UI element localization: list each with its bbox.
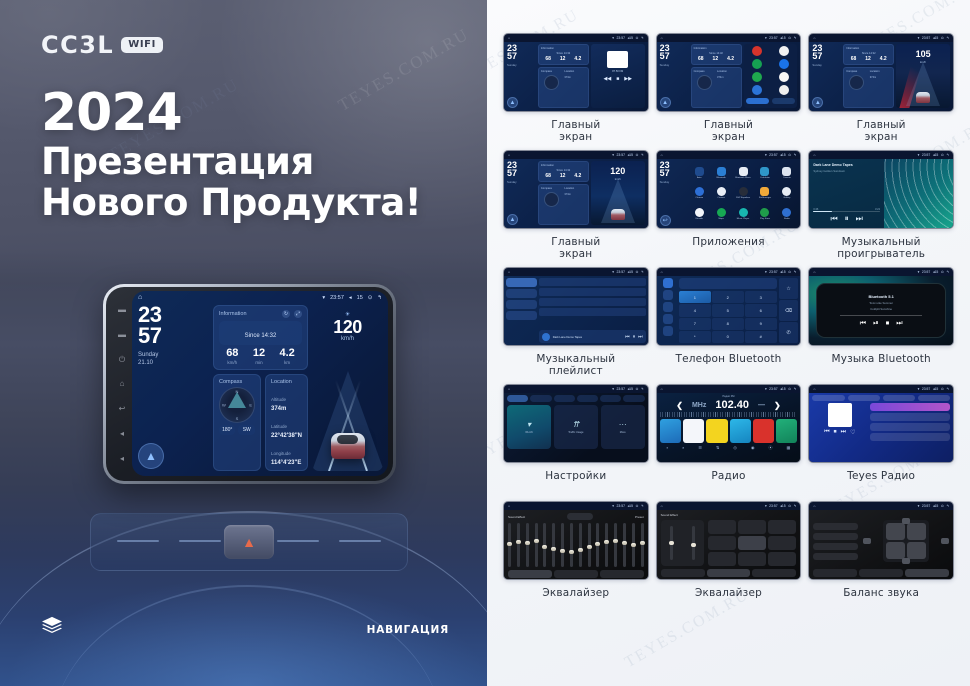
preset-button [768, 520, 796, 534]
dual-sliders [661, 520, 704, 566]
stat-avg-speed: 68 km/h [226, 348, 238, 365]
vent-slat [117, 540, 159, 542]
home-key[interactable]: ⌂ [118, 379, 127, 388]
dialer-sidebar [659, 278, 677, 343]
navigation-label: НАВИГАЦИЯ [367, 624, 449, 636]
volume-icon: ◂15 [780, 270, 785, 274]
app-tile: Bluetooth Music [733, 163, 754, 183]
caption-line-1: Приложения [692, 236, 764, 248]
gallery-item[interactable]: ⌂▾23:57◂15⊙↰ Sound Effect [656, 501, 802, 612]
layers-icon[interactable] [41, 616, 63, 642]
status-icons: ▾23:57◂15⊙↰ [612, 270, 643, 274]
dialer-actions: ☆ ⌫ ✆ [779, 278, 799, 343]
thumb-status-bar: ⌂▾23:57◂15⊙↰ [657, 151, 801, 159]
mini-location-title: Location [564, 187, 585, 190]
keypad: 1 2 3 4 5 6 7 8 9 * [679, 291, 777, 343]
mini-since: Since 14:32 [846, 52, 891, 55]
mini-compass-dial [697, 75, 712, 90]
home-icon: ⌂ [813, 36, 815, 40]
chevron-right-icon: ❯ [774, 401, 781, 410]
prev-icon: ⏮ [830, 214, 837, 224]
compass-direction: SW [238, 425, 255, 435]
compass-card[interactable]: Compass N S W E [213, 374, 261, 471]
app-label: Camera [783, 177, 791, 179]
gallery-item[interactable]: ⌂▾23:57◂15⊙↰ Sound Effect Preset [503, 501, 649, 612]
mini-compass: Compass [846, 70, 867, 105]
band-icon: ▪ [667, 445, 668, 451]
compass-dial-wrap: N S W E [219, 387, 255, 423]
player-visualizer [884, 159, 953, 228]
next-icon: ⏭ [638, 334, 643, 340]
stop-icon: ⏹ [886, 320, 890, 328]
volume-icon: ◂15 [933, 270, 938, 274]
radio-icon [782, 208, 791, 217]
wifi-icon: ▾ [765, 387, 767, 391]
wifi-icon: ▾ [322, 295, 325, 301]
bt-controls: ⏮ ⏯ ⏹ ⏭ [860, 320, 903, 328]
tile-label: More [620, 431, 626, 434]
thumbnail-settings[interactable]: ⌂▾23:57◂15⊙↰ [503, 384, 649, 463]
key-6: 6 [745, 304, 777, 316]
teyes-station-list [870, 403, 950, 460]
more-icon: ▦ [787, 445, 791, 451]
gear-icon: ⊙ [941, 36, 944, 40]
gallery-caption: Музыка Bluetooth [831, 353, 930, 378]
play-pause-icon: ⏯ [873, 320, 879, 328]
station-name: 87.50 FM [591, 70, 645, 73]
location-card[interactable]: Location Altitude 374m Latitude 22°42'38… [265, 374, 308, 471]
mini-home-screen: 23 57 Sunday ▲ Information Since 14:32 [504, 159, 648, 228]
app-icon-grid: Auto Bluetooth Bluetooth Music Calculato… [689, 161, 798, 226]
mini-location-title: Location [717, 70, 738, 73]
power-key[interactable]: ⏻ [118, 355, 127, 364]
information-card-header: Information ↻ ⤢ [219, 310, 302, 318]
app-label: Kinside [696, 218, 703, 220]
key-7: 7 [679, 318, 711, 330]
footer-tab [508, 570, 552, 578]
mini-information-card: Information Since 14:32 68 12 4.2 [538, 161, 589, 182]
album-art [542, 333, 550, 341]
back-icon[interactable]: ↰ [377, 295, 382, 301]
gallery-icon [782, 187, 791, 196]
key-hash: # [745, 331, 777, 343]
caption-line-1: Главный [551, 236, 600, 248]
equalizer-screen: Sound Effect Preset [504, 510, 648, 579]
mini-stats: 68 12 4.2 [694, 56, 739, 62]
app-label: Bluetooth [717, 177, 726, 179]
filemanager-icon [760, 187, 769, 196]
longitude-value: 114°4'23"E [271, 460, 302, 466]
clock-text: 23:57 [769, 153, 778, 157]
mini-nav-button: ▲ [507, 214, 518, 225]
navigation-button[interactable]: ▲ [138, 443, 164, 469]
thumbnail-equalizer[interactable]: ⌂▾23:57◂15⊙↰ Sound Effect Preset [503, 501, 649, 580]
footer-tab [707, 569, 751, 577]
eq-band [561, 523, 564, 567]
gallery-caption: Настройки [545, 470, 606, 495]
clock-text: 23:57 [922, 504, 931, 508]
head-unit-screen[interactable]: ⌂ ▾ 23:57 ◂ 15 ⊙ ↰ [132, 291, 388, 476]
clock-text: 23:57 [922, 153, 931, 157]
mini-nav-button: ▲ [812, 97, 823, 108]
caption-line-1: Баланс звука [843, 587, 919, 599]
status-icons: ▾23:57◂15⊙↰ [918, 387, 949, 391]
caption-line-1: Главный [551, 119, 600, 131]
gallery-item[interactable]: ⌂▾23:57◂15⊙↰ Bluetooth 5.1 Toxic-Like Su… [808, 267, 954, 378]
chevron-left-icon: ❮ [676, 401, 683, 410]
thumb-content: Радио FM ❮ MHz 102.40 — ❯ [657, 393, 801, 462]
mini-altitude: 374m [870, 76, 891, 79]
thumbnail-home-apps[interactable]: ⌂▾23:57◂15⊙↰ 23 57 Sunday ▲ [656, 33, 802, 112]
hotspot-tile: ⇈Traffic Usage [554, 405, 598, 449]
mini-compass-title: Compass [694, 70, 715, 73]
volume-icon: ◂15 [627, 153, 632, 157]
thumbnail-radio[interactable]: ⌂▾23:57◂15⊙↰ Радио FM ❮ MHz 102.40 — ❯ [656, 384, 802, 463]
tuner-scale [660, 412, 798, 417]
clock-date: 21.10 [138, 359, 209, 367]
footer-tab [752, 569, 796, 577]
speaker-rl [886, 542, 905, 559]
mini-clock-day: Sunday [812, 63, 841, 67]
thumbnail-teyes-radio[interactable]: ⌂▾23:57◂15⊙↰ ⏮ [808, 384, 954, 463]
thumbnail-sound-balance[interactable]: ⌂▾23:57◂15⊙↰ [808, 501, 954, 580]
hazard-lights-button[interactable]: ▲ [224, 525, 274, 559]
thumbnail-music-player[interactable]: ⌂▾23:57◂15⊙↰ Dark Lane Demo Tapes Sydney… [808, 150, 954, 229]
status-icons: ▾23:57◂15⊙↰ [612, 387, 643, 391]
volume-icon: ◂15 [933, 153, 938, 157]
caption-line-1: Настройки [545, 470, 606, 482]
refresh-icon[interactable]: ↻ [282, 310, 290, 318]
gallery-item[interactable]: ⌂▾23:57◂15⊙↰ Радио FM ❮ MHz 102.40 — ❯ [656, 384, 802, 495]
clock-widget: 23 57 Sunday 21.10 ▲ [138, 305, 209, 471]
thumbnail-apps[interactable]: ⌂▾23:57◂15⊙↰ 23 57 Sunday ↩ Auto [656, 150, 802, 229]
app-label: Radio [784, 218, 790, 220]
thumb-status-bar: ⌂▾23:57◂15⊙↰ [809, 151, 953, 159]
stat-value: 4.2 [280, 348, 295, 359]
pause-icon: ⏸ [845, 214, 849, 224]
mini-clock-m: 57 [660, 52, 689, 60]
home-icon: ⌂ [508, 36, 510, 40]
readout-row [813, 533, 858, 540]
mini-home-screen: 23 57 Sunday ▲ Information Since 14:32 [809, 42, 953, 111]
playlist-tracks: Dark Lane Demo Tapes ⏮ ⏸ ⏭ [539, 278, 646, 343]
app-label: Chrome [695, 197, 703, 199]
key-1: 1 [679, 291, 711, 303]
thumbnail-home-media[interactable]: ⌂▾23:57◂15⊙↰ 23 57 Sunday ▲ [503, 33, 649, 112]
play-store-icon [760, 208, 769, 217]
compass-w: W [222, 403, 226, 408]
tile-label: WLAN [525, 431, 533, 434]
back-key[interactable]: ↩ [118, 404, 127, 413]
radio-frequency-row: ❮ MHz 102.40 — ❯ [660, 399, 798, 411]
vent-slat [277, 540, 319, 542]
altitude-label: Altitude [271, 397, 286, 402]
volume-icon: ◂15 [627, 504, 632, 508]
gallery-item[interactable]: ⌂▾23:57◂15⊙↰ ⏮ [808, 384, 954, 495]
caption-line-1: Радио [711, 470, 745, 482]
equalizer-title: Sound Effect [508, 515, 525, 519]
thumbnail-equalizer-2[interactable]: ⌂▾23:57◂15⊙↰ Sound Effect [656, 501, 802, 580]
rds-icon: ◎ [733, 445, 737, 451]
mini-card-title: Information [694, 47, 739, 50]
key-0: 0 [712, 331, 744, 343]
headline-block: 2024 Презентация Нового Продукта! [41, 86, 421, 223]
volume-icon: ◂15 [780, 36, 785, 40]
eq-band [623, 523, 626, 567]
preset-grid [708, 520, 796, 566]
caption-line-2: проигрыватель [837, 248, 925, 260]
thumb-content: Sound Effect Preset [504, 510, 648, 579]
settings-tab [623, 395, 644, 402]
status-icons: ▾23:57◂15⊙↰ [918, 270, 949, 274]
key-3: 3 [745, 291, 777, 303]
settings-icon [663, 326, 673, 336]
balance-footer-tabs [813, 569, 949, 577]
app-label: Play Store [760, 218, 770, 220]
balance-readouts [813, 516, 858, 566]
music-player-screen: Dark Lane Demo Tapes Sydney Golden Sundo… [809, 159, 953, 228]
thumbnail-bluetooth-music[interactable]: ⌂▾23:57◂15⊙↰ Bluetooth 5.1 Toxic-Like Su… [808, 267, 954, 346]
stat-unit: km/h [226, 360, 238, 365]
clock-text: 23:57 [616, 387, 625, 391]
back-icon: ↰ [641, 153, 644, 157]
gallery-item[interactable]: ⌂▾23:57◂15⊙↰ 23 57 Sunday ▲ [503, 150, 649, 261]
gallery-item[interactable]: ⌂▾23:57◂15⊙↰ [656, 267, 802, 378]
preset-tile [660, 419, 681, 443]
slider [692, 526, 695, 560]
favorite-icon: ☆ [779, 278, 799, 299]
track-row [539, 308, 646, 316]
app-label: Music Player [737, 218, 750, 220]
gear-icon[interactable]: ⊙ [368, 295, 373, 301]
preset-button [708, 536, 736, 550]
volume-icon: ◂15 [933, 504, 938, 508]
preset-button [738, 552, 766, 566]
thumb-content: 1 2 3 4 5 6 7 8 9 * [657, 276, 801, 345]
status-bar-right: ▾ 23:57 ◂ 15 ⊙ ↰ [322, 295, 382, 301]
compass-s: S [236, 416, 239, 421]
app-label: Calculator [760, 177, 770, 179]
presentation-page: TEYES.COM.RU TEYES.COM.RU TEYES.COM.RU T… [0, 0, 970, 686]
mini-compass-dial [849, 75, 864, 90]
mini-compass-title: Compass [541, 70, 562, 73]
settings-tiles: ▾WLAN ⇈Traffic Usage ···More [507, 405, 645, 449]
album-art [828, 403, 852, 427]
app-icon [752, 72, 762, 82]
wifi-icon: ▾ [765, 270, 767, 274]
car-icon [611, 209, 625, 220]
thumb-content [809, 510, 953, 579]
caption-line-2: экран [551, 248, 600, 260]
app-icon [779, 46, 789, 56]
status-time: 23:57 [330, 295, 344, 301]
mini-compass: Compass [694, 70, 715, 105]
bt-title: Bluetooth 5.1 [868, 294, 893, 299]
volume-up-key[interactable]: ◂ [118, 454, 127, 463]
gallery-item[interactable]: ⌂▾23:57◂15⊙↰ [503, 384, 649, 495]
clock-text: 23:57 [769, 270, 778, 274]
radio-screen: Радио FM ❮ MHz 102.40 — ❯ [657, 393, 801, 462]
thumb-status-bar: ⌂▾23:57◂15⊙↰ [657, 34, 801, 42]
gallery-item[interactable]: ⌂▾23:57◂15⊙↰ [808, 501, 954, 612]
widgets-row: Compass N S W E [213, 374, 308, 471]
mini-stat: 68 [851, 56, 857, 62]
thumbnail-home-road[interactable]: ⌂▾23:57◂15⊙↰ 23 57 Sunday ▲ [503, 150, 649, 229]
mini-since: Since 14:32 [541, 52, 586, 55]
home-icon: ⌂ [813, 387, 815, 391]
gallery-item[interactable]: ⌂▾23:57◂15⊙↰ 23 57 Sunday ▲ [656, 33, 802, 144]
teyes-tabs [812, 395, 950, 401]
mini-stat: 4.2 [574, 173, 581, 179]
app-drawer-clock: 23 57 Sunday ↩ [660, 161, 686, 226]
mini-clock: 23 57 Sunday ▲ [507, 161, 536, 225]
mini-drive-widget: 120 km/h [591, 161, 645, 225]
home-screen: 23 57 Sunday 21.10 ▲ Information [132, 304, 388, 476]
expand-icon[interactable]: ⤢ [294, 310, 302, 318]
back-button: ↩ [660, 215, 671, 226]
wifi-icon: ▾ [918, 36, 920, 40]
thumb-content: Dark Lane Demo Tapes Sydney Golden Sundo… [809, 159, 953, 228]
app-drawer: 23 57 Sunday ↩ Auto Bluetooth Bluetooth … [657, 159, 801, 228]
sidebar-tab [506, 289, 537, 298]
mute-key[interactable]: ▬ [118, 330, 127, 339]
wifi-icon: ▾ [918, 153, 920, 157]
equalizer-2-title: Sound Effect [661, 513, 678, 517]
pause-icon: ⏸ [633, 334, 636, 340]
key-5: 5 [712, 304, 744, 316]
head-unit-side-keys: ▬ ▬ ⏻ ⌂ ↩ ◂ ◂ [114, 297, 130, 471]
mini-nav-button: ▲ [507, 97, 518, 108]
teyes-radio-screen: ⏮ ⏹ ⏭ ♡ [809, 393, 953, 462]
home-icon[interactable]: ⌂ [138, 294, 142, 301]
preset-button [738, 536, 766, 550]
track-row [539, 288, 646, 296]
bluetooth-music-screen: Bluetooth 5.1 Toxic-Like Summer Coldplit… [809, 276, 953, 345]
thumb-status-bar: ⌂▾23:57◂15⊙↰ [657, 385, 801, 393]
mini-compass-dial [544, 192, 559, 207]
settings-tab [530, 395, 551, 402]
speaker-rr [907, 542, 926, 559]
mini-speed-unit: km/h [896, 60, 950, 64]
thumbnail-bluetooth-phone[interactable]: ⌂▾23:57◂15⊙↰ [656, 267, 802, 346]
latitude-label: Latitude [271, 424, 287, 429]
app-icon [752, 85, 762, 95]
thumb-status-bar: ⌂▾23:57◂15⊙↰ [504, 151, 648, 159]
stat-unit: km [280, 360, 295, 365]
next-icon: ⏭ [896, 320, 902, 328]
information-card[interactable]: Information ↻ ⤢ Since 14:32 [213, 305, 308, 370]
track-row [539, 278, 646, 286]
mini-location-title: Location [870, 70, 891, 73]
thumb-content: 23 57 Sunday ▲ Information Since 14:32 [504, 159, 648, 228]
preset-button [708, 520, 736, 534]
radio-presets [660, 419, 798, 443]
app-tile: Contact [711, 184, 732, 204]
thumbnail-playlist[interactable]: ⌂▾23:57◂15⊙↰ [503, 267, 649, 346]
equalizer-2-header: Sound Effect [661, 513, 797, 517]
preset-tile [776, 419, 797, 443]
preset-button [738, 520, 766, 534]
footer-tab [905, 569, 949, 577]
stat-value: 12 [253, 348, 265, 359]
status-bar: ⌂ ▾ 23:57 ◂ 15 ⊙ ↰ [132, 291, 388, 304]
compass-heading: 180° [219, 425, 236, 435]
clock-minutes: 57 [138, 326, 209, 347]
volume-icon[interactable]: ◂ [349, 295, 352, 301]
drive-widget[interactable]: ☀ 120 km/h [312, 305, 383, 471]
mini-since: Since 14:32 [541, 169, 586, 172]
app-tile: Auto [689, 163, 710, 183]
location-longitude: Longitude 114°4'23"E [271, 442, 302, 466]
freq-unit-left: MHz [692, 402, 706, 409]
home-icon: ⌂ [661, 36, 663, 40]
volume-icon: ◂15 [780, 504, 785, 508]
since-label: Since 14:32 [245, 333, 277, 339]
menu-key[interactable]: ▬ [118, 305, 127, 314]
volume-icon: ◂15 [780, 153, 785, 157]
gallery-caption: Главный экран [551, 236, 600, 261]
key-star: * [679, 331, 711, 343]
readout-row [813, 543, 858, 550]
gallery-caption: Музыкальный проигрыватель [837, 236, 925, 261]
mini-widgets-row: Compass Location 374m [843, 67, 894, 108]
back-icon: ↰ [641, 36, 644, 40]
mini-stat: 4.2 [727, 56, 734, 62]
gallery-item[interactable]: ⌂▾23:57◂15⊙↰ Dark Lane Demo Tapes Sydney… [808, 150, 954, 261]
mini-stats: 68 12 4.2 [541, 173, 586, 179]
mini-location: Location 374m [564, 70, 585, 105]
gallery-item[interactable]: ⌂▾23:57◂15⊙↰ 23 57 Sunday ▲ [808, 33, 954, 144]
eq-band [526, 523, 529, 567]
thumbnail-home-road-red[interactable]: ⌂▾23:57◂15⊙↰ 23 57 Sunday ▲ [808, 33, 954, 112]
back-icon: ↰ [641, 270, 644, 274]
mini-clock-m: 57 [812, 52, 841, 60]
caption-line-1: Музыкальный [837, 236, 925, 248]
status-icons: ▾23:57◂15⊙↰ [765, 270, 796, 274]
gear-icon: ⊙ [788, 387, 791, 391]
status-icons: ▾23:57◂15⊙↰ [765, 36, 796, 40]
back-icon: ↰ [946, 36, 949, 40]
back-icon: ↰ [946, 270, 949, 274]
vent-slat [179, 540, 221, 542]
volume-icon: ◂15 [780, 387, 785, 391]
gallery-item[interactable]: ⌂▾23:57◂15⊙↰ 23 57 Sunday ▲ [503, 33, 649, 144]
status-icons: ▾23:57◂15⊙↰ [918, 36, 949, 40]
mini-altitude: 374m [564, 193, 585, 196]
equalizer-footer-tabs [661, 569, 797, 577]
footer-pill [746, 98, 769, 104]
back-icon: ↰ [946, 504, 949, 508]
gallery-item[interactable]: ⌂▾23:57◂15⊙↰ [503, 267, 649, 378]
gallery-item[interactable]: ⌂▾23:57◂15⊙↰ 23 57 Sunday ↩ Auto [656, 150, 802, 261]
app-tile: Bluetooth [711, 163, 732, 183]
volume-icon: ◂15 [627, 36, 632, 40]
more-tile: ···More [601, 405, 645, 449]
volume-down-key[interactable]: ◂ [118, 429, 127, 438]
clock-text: 23:57 [922, 270, 931, 274]
gear-icon: ⊙ [941, 504, 944, 508]
app-icon [752, 59, 762, 69]
longitude-label: Longitude [271, 451, 291, 456]
wifi-badge: WIFI [121, 37, 163, 53]
wifi-tile: ▾WLAN [507, 405, 551, 449]
left-button [863, 538, 871, 544]
equalizer-2-screen: Sound Effect [657, 510, 801, 579]
information-title: Information [219, 311, 247, 317]
thumb-status-bar: ⌂▾23:57◂15⊙↰ [504, 268, 648, 276]
equalizer-preset: Preset [635, 515, 644, 519]
eq-band [588, 523, 591, 567]
